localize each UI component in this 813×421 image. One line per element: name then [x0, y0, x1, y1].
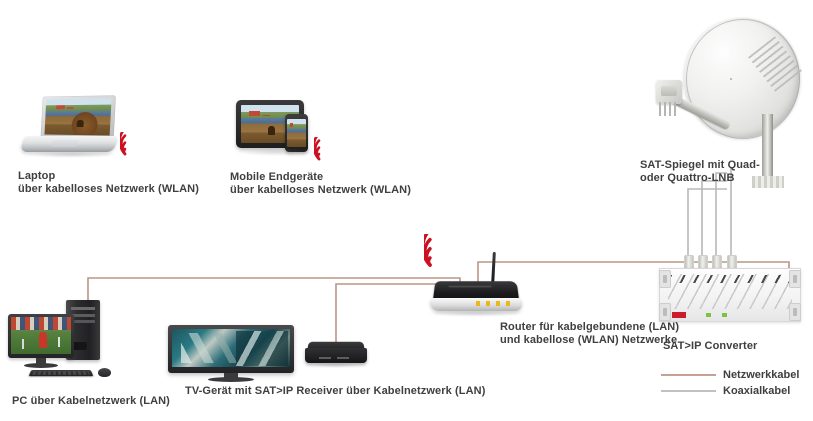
pc-keyboard [29, 370, 94, 376]
laptop-screen [44, 98, 111, 135]
converter-bracket-top-right [789, 270, 801, 288]
legend-label-coax: Koaxialkabel [723, 385, 790, 397]
converter-top-slots [670, 275, 790, 283]
wifi-signal-icon [424, 234, 460, 270]
pc-label: PC über Kabelnetzwerk (LAN) [12, 395, 170, 408]
laptop-icon [22, 96, 116, 158]
dish-mast-foot [752, 176, 784, 188]
coax-port-1 [684, 255, 694, 269]
pc-screen [11, 317, 71, 354]
converter-led-1 [706, 313, 711, 317]
receiver-shadow [305, 362, 367, 368]
receiver-body [305, 348, 367, 363]
tablet-and-phone-icon [236, 100, 320, 156]
converter-bracket-top-left [659, 270, 671, 288]
coax-cable-1 [688, 189, 727, 255]
tv-label: TV-Gerät mit SAT>IP Receiver über Kabeln… [185, 385, 485, 398]
satellite-dish-icon [642, 18, 802, 158]
mobile-label-line2: über kabelloses Netzwerk (WLAN) [230, 184, 411, 197]
tv-screen [172, 329, 290, 367]
lnb-head [656, 80, 682, 104]
sat-ip-converter-icon [659, 268, 801, 322]
dish-label-line2: oder Quattro-LNB [640, 172, 734, 185]
dish-label-line1: SAT-Spiegel mit Quad- [640, 159, 760, 172]
mobile-shadow [236, 148, 316, 156]
laptop-shadow [26, 151, 116, 158]
router-label-line2: und kabellose (WLAN) Netzwerke [500, 334, 677, 347]
coax-cable-2 [702, 181, 727, 255]
coax-port-3 [712, 255, 722, 269]
tv-body [168, 325, 294, 373]
television-icon [168, 325, 294, 383]
legend-lines [661, 375, 716, 391]
smartphone-icon [285, 114, 308, 152]
wifi-signal-icon [120, 132, 146, 158]
coax-port-4 [727, 255, 737, 269]
dish-dot [730, 78, 732, 80]
laptop-lid [41, 95, 116, 140]
converter-bracket-bottom-left [659, 303, 671, 321]
network-cable-router-pc [88, 278, 460, 305]
lnb-output-ports [659, 102, 679, 116]
coax-cable-3 [716, 173, 727, 255]
router-shadow [428, 310, 524, 317]
laptop-trackpad [51, 140, 80, 147]
dish-mast [762, 114, 773, 184]
converter-bracket-bottom-right [789, 303, 801, 321]
router-lan-leds [476, 301, 514, 306]
mobile-label-line1: Mobile Endgeräte [230, 171, 323, 184]
laptop-label-line2: über kabelloses Netzwerk (WLAN) [18, 183, 199, 196]
desktop-computer-icon [8, 300, 116, 378]
wifi-router-icon [428, 270, 524, 318]
legend-label-network: Netzwerkkabel [723, 369, 799, 381]
pc-monitor [8, 314, 74, 358]
pc-mouse [98, 368, 111, 377]
pc-monitor-foot [24, 363, 58, 368]
wifi-signal-icon [314, 137, 340, 163]
converter-led-2 [722, 313, 727, 317]
tv-foot [208, 377, 254, 382]
smartphone-screen [287, 119, 306, 147]
coax-port-2 [698, 255, 708, 269]
diagram-canvas: Laptop über kabelloses Netzwerk (WLAN) M… [0, 0, 813, 421]
set-top-box-icon [305, 341, 367, 368]
router-label-line1: Router für kabelgebundene (LAN) [500, 321, 679, 334]
laptop-label-line1: Laptop [18, 170, 55, 183]
converter-brand-logo [672, 312, 686, 318]
